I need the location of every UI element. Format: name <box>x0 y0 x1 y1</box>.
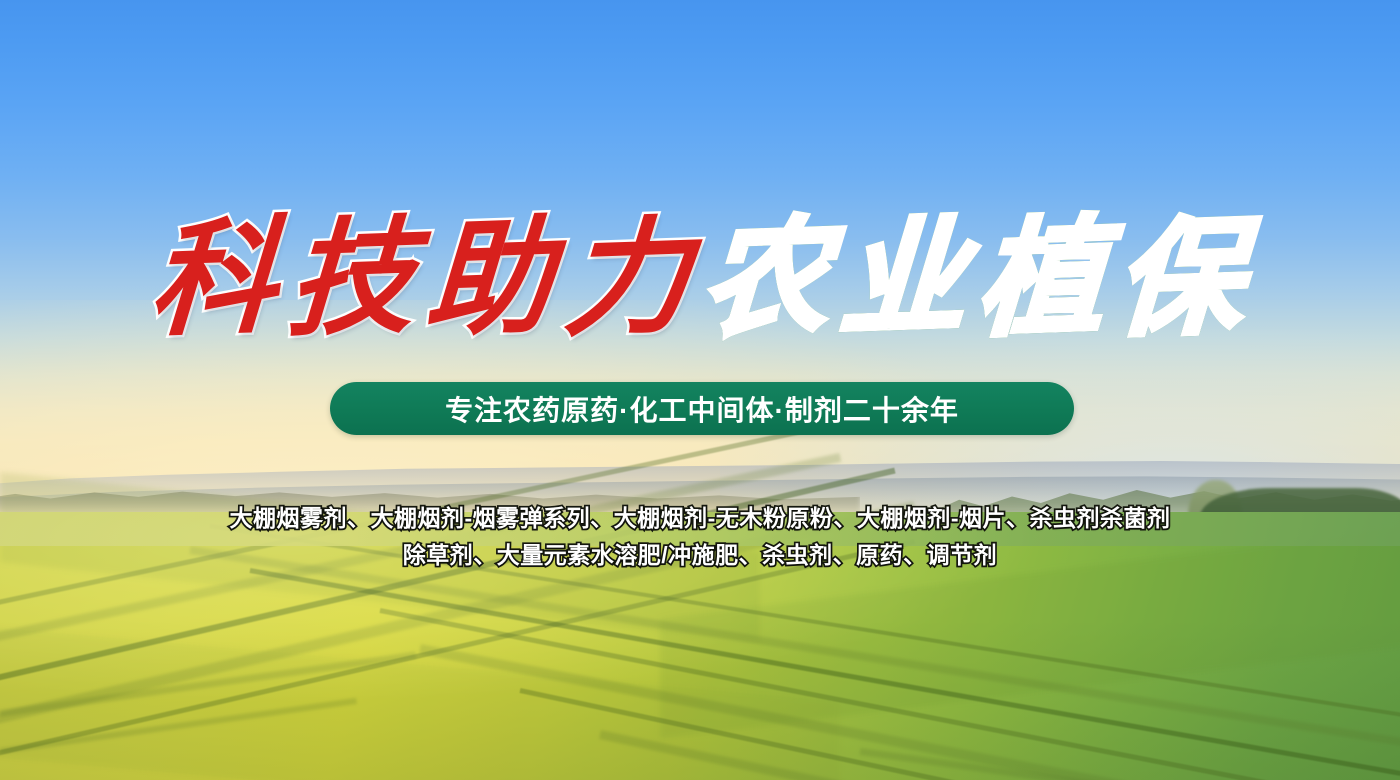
subtitle-banner: 专注农药原药·化工中间体·制剂二十余年 <box>330 382 1074 435</box>
subtitle-text: 专注农药原药·化工中间体·制剂二十余年 <box>445 389 959 429</box>
title-char-6: 业 <box>834 204 980 359</box>
product-line-2: 除草剂、大量元素水溶肥/冲施肥、杀虫剂、原药、调节剂 <box>0 537 1400 574</box>
product-line-1: 大棚烟雾剂、大棚烟剂-烟雾弹系列、大棚烟剂-无木粉原粉、大棚烟剂-烟片、杀虫剂杀… <box>0 500 1400 537</box>
title-char-8: 保 <box>1110 204 1256 359</box>
title-char-7: 植 <box>972 204 1118 359</box>
page-title: 科技助力农业植保 <box>0 206 1400 356</box>
promotional-banner: 科技助力农业植保 专注农药原药·化工中间体·制剂二十余年 大棚烟雾剂、大棚烟剂-… <box>0 0 1400 780</box>
title-char-3: 助 <box>420 204 566 359</box>
title-char-2: 技 <box>282 204 428 359</box>
title-char-5: 农 <box>696 204 842 359</box>
title-char-1: 科 <box>144 204 290 359</box>
product-list: 大棚烟雾剂、大棚烟剂-烟雾弹系列、大棚烟剂-无木粉原粉、大棚烟剂-烟片、杀虫剂杀… <box>0 500 1400 574</box>
title-char-4: 力 <box>558 204 704 359</box>
